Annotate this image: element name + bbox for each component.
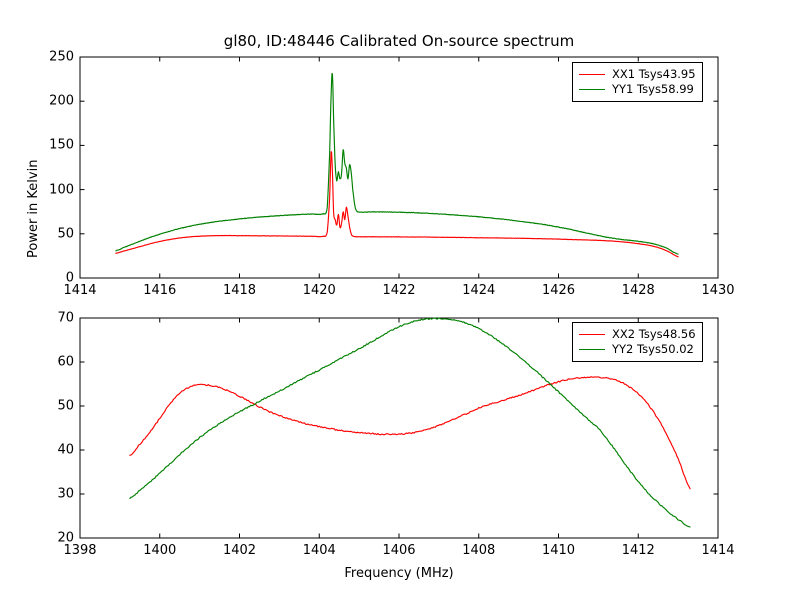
legend-swatch-line-icon — [579, 349, 605, 350]
x-tick-label: 1406 — [382, 543, 415, 558]
bottom-x-axis-label: Frequency (MHz) — [80, 566, 718, 581]
x-tick-label: 1414 — [701, 543, 734, 558]
legend-item[interactable]: YY2 Tsys50.02 — [579, 342, 696, 357]
x-tick-label: 1402 — [223, 543, 256, 558]
y-tick-label: 50 — [32, 399, 74, 414]
y-tick-label: 60 — [32, 355, 74, 370]
legend-label: XX2 Tsys48.56 — [612, 327, 696, 342]
y-tick-label: 20 — [32, 531, 74, 546]
y-tick-label: 40 — [32, 443, 74, 458]
legend-item[interactable]: XX2 Tsys48.56 — [579, 327, 696, 342]
x-tick-label: 1412 — [622, 543, 655, 558]
figure-canvas: gl80, ID:48446 Calibrated On-source spec… — [0, 0, 800, 600]
x-tick-label: 1410 — [542, 543, 575, 558]
bottom-plot-svg — [0, 0, 800, 600]
x-tick-label: 1400 — [143, 543, 176, 558]
legend-label: YY2 Tsys50.02 — [612, 342, 694, 357]
y-tick-label: 70 — [32, 311, 74, 326]
x-tick-label: 1408 — [462, 543, 495, 558]
series-line-xx2 — [130, 377, 690, 489]
x-tick-label: 1404 — [303, 543, 336, 558]
legend-swatch-line-icon — [579, 334, 605, 335]
y-tick-label: 30 — [32, 487, 74, 502]
bottom-legend[interactable]: XX2 Tsys48.56 YY2 Tsys50.02 — [572, 322, 703, 362]
